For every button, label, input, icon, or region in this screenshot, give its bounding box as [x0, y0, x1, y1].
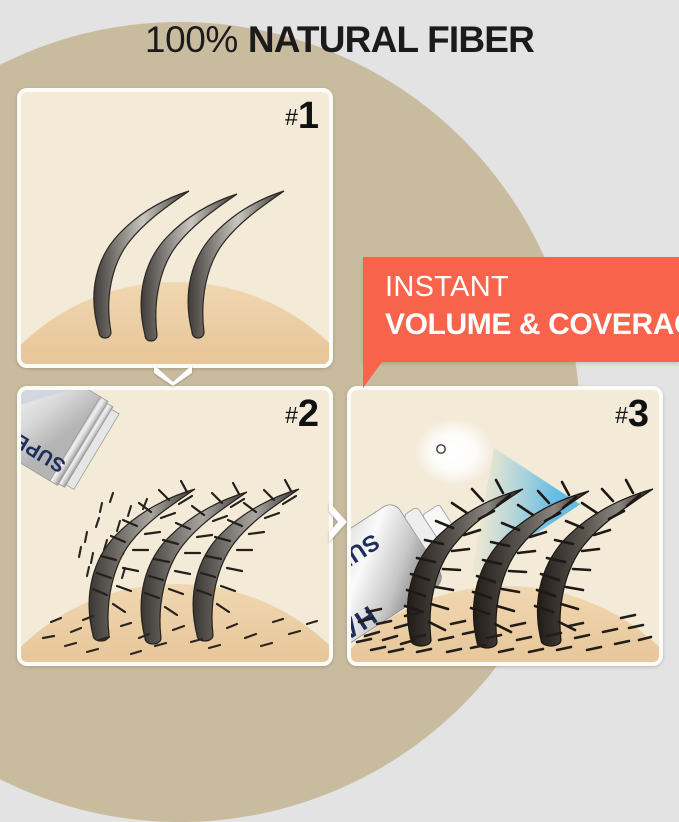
panel-1-badge: #1 [285, 97, 319, 136]
panel-2-inner: SUPER MILLION [21, 390, 329, 662]
title-percent: 100% [145, 19, 238, 60]
badge-number: 1 [298, 95, 319, 137]
scalp-coverage-fibers [357, 609, 651, 652]
panel-3-inner: SUPER HAIR [351, 390, 659, 662]
promo-banner: INSTANT VOLUME & COVERAGE [363, 257, 679, 362]
title-main: NATURAL FIBER [248, 19, 534, 60]
badge-hash: # [285, 402, 298, 428]
badge-number: 2 [298, 393, 319, 435]
panel-3-badge: #3 [615, 395, 649, 434]
step-panel-2: SUPER MILLION [17, 386, 333, 666]
chevron-down-icon [152, 362, 194, 386]
thin-hair-illustration [21, 92, 329, 364]
panel-1-inner: #1 [21, 92, 329, 364]
badge-hash: # [285, 104, 298, 130]
infographic-root: 100% NATURAL FIBER [0, 0, 679, 679]
page-title: 100% NATURAL FIBER [0, 18, 679, 62]
chevron-right-icon [326, 500, 350, 544]
badge-hash: # [615, 402, 628, 428]
promo-banner-tail [363, 362, 382, 388]
panel-2-badge: #2 [285, 395, 319, 434]
step-panel-3: SUPER HAIR [347, 386, 663, 666]
thick-hair-illustration [351, 390, 659, 662]
scattered-fibers [43, 616, 317, 654]
fibered-hair-illustration [21, 390, 329, 662]
promo-line-2: VOLUME & COVERAGE [385, 305, 679, 345]
badge-number: 3 [628, 393, 649, 435]
promo-banner-text: INSTANT VOLUME & COVERAGE [385, 269, 679, 345]
step-panel-1: #1 [17, 88, 333, 368]
promo-line-1: INSTANT [385, 269, 679, 305]
